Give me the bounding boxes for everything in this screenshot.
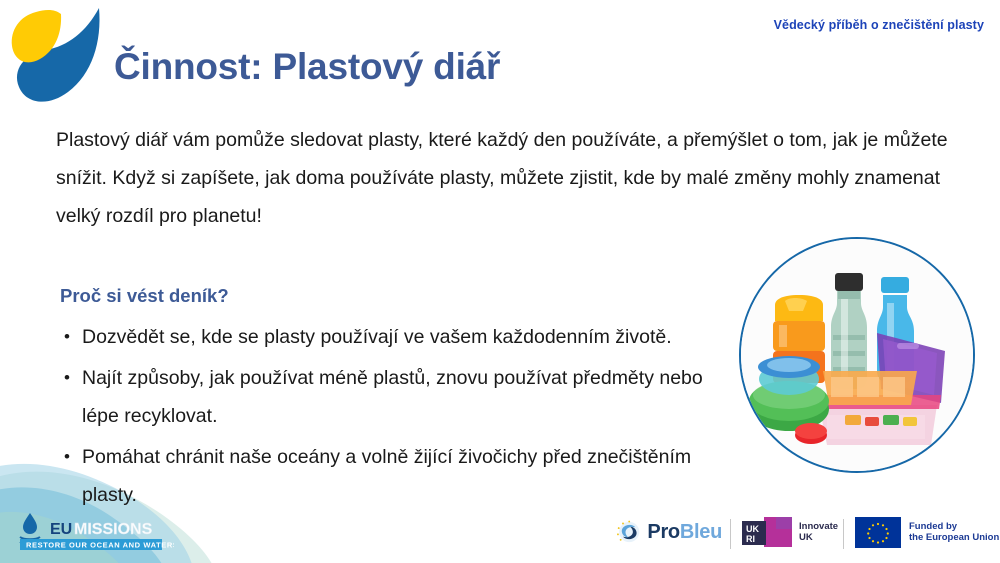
eu-funded-line1: Funded by <box>909 521 999 533</box>
section-heading: Proč si vést deník? <box>60 285 229 307</box>
probleu-word-part1: Pro <box>647 521 679 543</box>
plastic-items-photo <box>739 237 975 473</box>
brand-logo-icon <box>6 2 114 110</box>
probleu-wordmark: ProBleu <box>647 521 722 544</box>
svg-text:RI: RI <box>746 534 755 544</box>
bullet-marker-icon: • <box>56 438 82 476</box>
eu-funded-logo: Funded by the European Union <box>855 515 999 549</box>
probleu-globe-icon <box>616 516 642 548</box>
eu-flag-icon <box>855 517 901 548</box>
svg-text:UK: UK <box>746 524 759 534</box>
list-item: • Najít způsoby, jak používat méně plast… <box>56 359 716 435</box>
ukri-mark-icon: UK RI <box>740 517 792 547</box>
eu-missions-logo: EU MISSIONS RESTORE OUR OCEAN AND WATERS… <box>14 509 174 553</box>
svg-text:RESTORE OUR OCEAN AND WATERS: RESTORE OUR OCEAN AND WATERS <box>26 541 174 550</box>
bullet-marker-icon: • <box>56 359 82 397</box>
ukri-innovate-uk-logo: UK RI Innovate UK <box>740 515 838 549</box>
probleu-word-part2: Bleu <box>680 521 722 543</box>
red-cap <box>795 423 827 444</box>
footer-logo-row: EU MISSIONS RESTORE OUR OCEAN AND WATERS… <box>0 499 1000 563</box>
page-title: Činnost: Plastový diář <box>114 46 500 88</box>
eu-funded-line2: the European Union <box>909 532 999 544</box>
innovate-uk-text: Innovate UK <box>799 521 838 544</box>
list-item-text: Najít způsoby, jak používat méně plastů,… <box>82 359 716 435</box>
benefits-list: • Dozvědět se, kde se plasty používají v… <box>56 318 716 517</box>
list-item-text: Dozvědět se, kde se plasty používají ve … <box>82 318 716 356</box>
innovate-uk-line2: UK <box>799 532 838 544</box>
probleu-logo: ProBleu <box>616 515 722 549</box>
orange-tray <box>823 371 917 405</box>
document-kicker: Vědecký příběh o znečištění plasty <box>774 18 984 32</box>
slide-canvas: Vědecký příběh o znečištění plasty Činno… <box>0 0 1000 563</box>
eu-funded-text: Funded by the European Union <box>909 521 999 544</box>
footer-divider <box>843 519 844 549</box>
bullet-marker-icon: • <box>56 318 82 356</box>
intro-paragraph: Plastový diář vám pomůže sledovat plasty… <box>56 121 976 235</box>
innovate-uk-line1: Innovate <box>799 521 838 533</box>
list-item: • Dozvědět se, kde se plasty používají v… <box>56 318 716 356</box>
footer-divider <box>730 519 731 549</box>
svg-text:EU: EU <box>50 521 72 538</box>
teal-bowl <box>758 356 820 395</box>
svg-text:MISSIONS: MISSIONS <box>74 521 153 538</box>
